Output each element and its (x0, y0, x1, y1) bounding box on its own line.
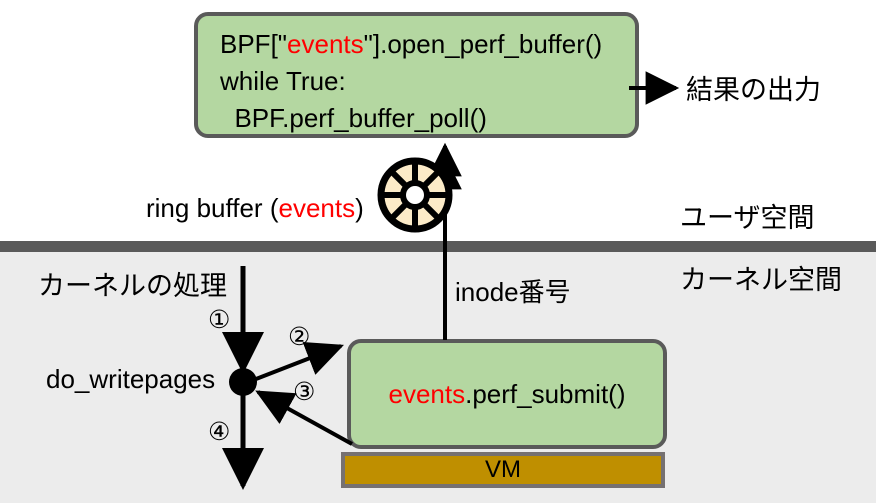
code-line-perf-submit: events.perf_submit() (389, 379, 626, 410)
code-line-perf-buffer-poll: BPF.perf_buffer_poll() (220, 100, 635, 137)
kernel-processing-label: カーネルの処理 (38, 264, 227, 303)
code-text: "].open_perf_buffer() (364, 29, 603, 59)
kernel-space-band-label: カーネル空間 (680, 258, 842, 297)
space-divider-bar (0, 241, 876, 252)
ring-buffer-label-text: ring buffer ( (146, 193, 278, 223)
code-highlight-events: events (389, 379, 466, 409)
step-marker-3: ③ (293, 377, 315, 407)
code-text: BPF[" (220, 29, 287, 59)
user-space-band-label: ユーザ空間 (680, 196, 814, 235)
ring-buffer-wheel-icon (381, 161, 449, 229)
do-writepages-label: do_writepages (46, 364, 215, 395)
output-result-label: 結果の出力 (686, 68, 821, 107)
ring-buffer-label-text: ) (355, 193, 364, 223)
step-marker-2: ② (288, 322, 310, 352)
vm-bar-label: VM (485, 456, 521, 484)
inode-number-label: inode番号 (455, 272, 571, 309)
kernel-space-code-box: events.perf_submit() (347, 339, 667, 449)
user-space-code-box: BPF["events"].open_perf_buffer() while T… (194, 12, 639, 138)
code-highlight-events: events (287, 29, 364, 59)
code-line-open-perf-buffer: BPF["events"].open_perf_buffer() (220, 26, 635, 63)
ring-buffer-label-highlight-events: events (278, 193, 355, 223)
ring-buffer-label: ring buffer (events) (146, 193, 364, 224)
code-line-while-true: while True: (220, 63, 635, 100)
vm-bar: VM (341, 452, 665, 488)
step-marker-1: ① (208, 305, 230, 335)
step-marker-4: ④ (208, 417, 230, 447)
code-text: .perf_submit() (465, 379, 625, 409)
diagram-canvas: BPF["events"].open_perf_buffer() while T… (0, 0, 876, 503)
